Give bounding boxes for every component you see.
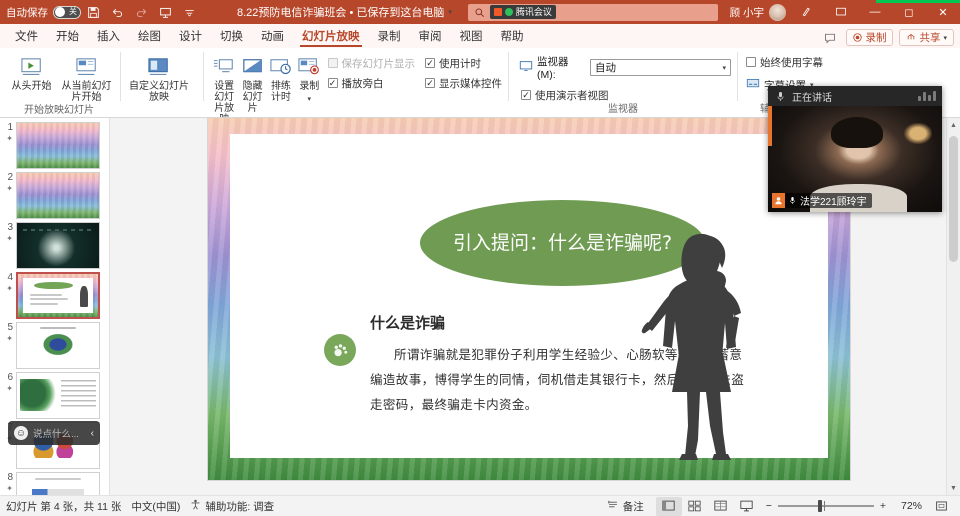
thumbnail-row[interactable]: 5 ✦: [0, 318, 109, 368]
hide-slide-label: 隐藏幻灯片: [239, 81, 265, 114]
rehearse-timings-button[interactable]: 排练计时: [267, 51, 295, 105]
tab-insert[interactable]: 插入: [88, 26, 129, 48]
ribbon-group-custom-show: 自定义幻灯片放映: [123, 48, 201, 118]
tab-animations[interactable]: 动画: [252, 26, 293, 48]
play-from-start-icon: [20, 53, 44, 79]
slide-white-card: 引入提问：什么是诈骗呢? 什么是诈骗 所谓诈骗就是犯罪份子利用学生经验少、心肠软…: [230, 134, 828, 458]
thumbnail-row-selected[interactable]: 4 ✦: [0, 268, 109, 318]
tab-draw[interactable]: 绘图: [129, 26, 170, 48]
slide-preview-art: [17, 123, 99, 168]
notes-icon: [607, 499, 619, 513]
meeting-video-feed[interactable]: 法学221顾玲宇: [768, 106, 942, 212]
animation-star-icon: ✦: [2, 283, 13, 294]
redo-icon[interactable]: [129, 1, 153, 23]
title-bar: 自动保存 关 8.22预防电信诈骗班会 •: [0, 0, 960, 24]
tab-file[interactable]: 文件: [6, 26, 47, 48]
tencent-meeting-badge[interactable]: 腾讯会议: [490, 5, 556, 19]
monitor-label: 监视器(M):: [537, 54, 586, 81]
checkbox-box: [425, 78, 435, 88]
badge-label: 腾讯会议: [516, 5, 552, 18]
ribbon-group-monitor: 监视器(M): 自动 ▾ 使用演示者视图 监视器: [511, 48, 735, 118]
meeting-status-text: 正在讲话: [792, 89, 832, 104]
thumbnail-row[interactable]: 3 ✦: [0, 218, 109, 268]
checkbox-use-timings[interactable]: 使用计时: [425, 55, 502, 71]
ribbon-group-label-start-slideshow: 开始放映幻灯片: [4, 105, 114, 118]
microphone-icon[interactable]: [774, 90, 786, 102]
document-title[interactable]: 8.22预防电信诈骗班会 • 已保存到这台电脑 ▾: [237, 4, 452, 20]
animation-star-icon: ✦: [2, 333, 13, 344]
zoom-out-button[interactable]: −: [766, 500, 772, 512]
checkbox-use-timings-label: 使用计时: [439, 56, 481, 71]
restore-button[interactable]: —: [858, 0, 892, 24]
checkbox-always-use-subtitles[interactable]: 始终使用字幕: [746, 54, 823, 70]
animation-star-icon: ✦: [2, 233, 13, 244]
thumbnail-number: 6 ✦: [2, 372, 16, 394]
rehearse-timings-icon: [269, 53, 293, 79]
autosave-label: 自动保存: [6, 5, 48, 20]
thumbnail-row[interactable]: 6 ✦: [0, 368, 109, 418]
account-name: 顾 小宇: [730, 5, 764, 20]
record-slideshow-label: 录制: [299, 81, 319, 92]
zoom-handle[interactable]: [818, 500, 822, 512]
badge-square-icon: [494, 8, 502, 16]
tab-design[interactable]: 设计: [170, 26, 211, 48]
title-bar-right: 顾 小宇 — ◻ ✕: [730, 0, 960, 24]
current-slide[interactable]: 引入提问：什么是诈骗呢? 什么是诈骗 所谓诈骗就是犯罪份子利用学生经验少、心肠软…: [208, 118, 850, 480]
checkbox-show-media-controls-label: 显示媒体控件: [439, 76, 502, 91]
chevron-down-icon[interactable]: ▾: [943, 34, 947, 42]
zoom-in-button[interactable]: +: [880, 500, 886, 512]
fit-to-window-icon[interactable]: [928, 497, 954, 516]
thumbnail-number: 2 ✦: [2, 172, 16, 194]
slide-preview-art: [17, 173, 99, 218]
scroll-up-arrow-icon[interactable]: ▲: [947, 118, 960, 132]
chevron-down-icon[interactable]: ▾: [308, 94, 312, 105]
zoom-tick: [824, 501, 825, 511]
minimize-button[interactable]: [824, 0, 858, 24]
language-indicator[interactable]: 中文(中国): [131, 499, 190, 514]
slide-preview-line: [30, 298, 68, 300]
ribbon-group-label-spacer: [127, 105, 197, 118]
tab-slideshow[interactable]: 幻灯片放映: [293, 26, 369, 48]
record-button[interactable]: 录制: [846, 29, 893, 46]
thumbnail-number-text: 8: [7, 472, 13, 483]
checkbox-save-slideshow-label: 保存幻灯片显示: [342, 56, 416, 71]
vertical-scrollbar[interactable]: ▲ ▼: [946, 118, 960, 495]
tab-home[interactable]: 开始: [47, 26, 88, 48]
thumbnail-number: 5 ✦: [2, 322, 16, 344]
chat-input-placeholder[interactable]: 说点什么...: [33, 426, 86, 440]
notes-button[interactable]: 备注: [607, 499, 656, 514]
normal-view-icon[interactable]: [656, 497, 682, 516]
scrollbar-thumb[interactable]: [949, 136, 958, 262]
checkbox-play-narrations-label: 播放旁白: [342, 76, 384, 91]
checkbox-presenter-view-label: 使用演示者视图: [535, 88, 609, 103]
slide-preview-line: [35, 478, 81, 480]
monitor-select-value: 自动: [595, 60, 616, 75]
monitor-select[interactable]: 自动 ▾: [590, 59, 731, 76]
thumbnail-slide-1[interactable]: [16, 122, 100, 169]
scroll-down-arrow-icon[interactable]: ▼: [947, 481, 960, 495]
checkbox-show-media-controls[interactable]: 显示媒体控件: [425, 75, 502, 91]
checkbox-box: [328, 58, 338, 68]
ribbon-separator: [508, 52, 509, 101]
ribbon-group-label-monitor: 监视器: [515, 104, 731, 118]
slideshow-icon[interactable]: [734, 497, 760, 516]
participant-hair: [831, 117, 883, 149]
animation-star-icon: ✦: [2, 133, 13, 144]
quick-access-toolbar: 自动保存 关: [0, 1, 201, 23]
autosave-control[interactable]: 自动保存 关: [6, 5, 81, 20]
meeting-window-header: 正在讲话: [768, 86, 942, 106]
account-control[interactable]: 顾 小宇: [730, 4, 790, 21]
chevron-left-icon[interactable]: ‹: [91, 428, 94, 439]
close-button[interactable]: ✕: [926, 0, 960, 24]
comments-icon[interactable]: [820, 29, 840, 46]
thumbnail-number-text: 2: [7, 172, 13, 183]
play-from-start-label: 从头开始: [12, 81, 52, 92]
paw-icon: [324, 334, 356, 366]
tencent-meeting-window[interactable]: 正在讲话 法学221顾玲宇: [768, 86, 942, 212]
search-box[interactable]: 搜索 腾讯会议: [468, 4, 718, 21]
play-from-start-button[interactable]: 从头开始: [4, 51, 59, 94]
notes-label: 备注: [623, 499, 644, 514]
slide-preview-line: [30, 294, 62, 296]
record-slideshow-button[interactable]: 录制 ▾: [295, 51, 323, 107]
slide-preview-ellipse: [34, 282, 73, 290]
checkbox-play-narrations[interactable]: 播放旁白: [328, 75, 416, 91]
checkbox-box: [328, 78, 338, 88]
caption-settings-icon: [746, 77, 760, 93]
custom-show-icon: [147, 53, 171, 79]
custom-slideshow-label: 自定义幻灯片放映: [128, 81, 190, 103]
thumbnail-row[interactable]: 1 ✦: [0, 118, 109, 168]
avatar[interactable]: [769, 4, 786, 21]
ribbon-display-options-icon[interactable]: [790, 0, 824, 24]
slide-subheading[interactable]: 什么是诈骗: [370, 312, 445, 333]
zoom-track[interactable]: [778, 505, 874, 507]
thumbnail-slide-8[interactable]: [16, 472, 100, 495]
ribbon-group-start-slideshow: 从头开始 从当前幻灯片开始 开始放映幻灯片: [0, 48, 118, 118]
chevron-down-icon[interactable]: ▾: [448, 8, 452, 16]
accessibility-icon: [190, 499, 201, 513]
thumbnail-number-text: 1: [7, 122, 13, 133]
animation-star-icon: ✦: [2, 383, 13, 394]
thumbnail-row[interactable]: 8 ✦: [0, 468, 109, 495]
zoom-slider[interactable]: − + 72%: [760, 500, 928, 512]
audio-wave-icon: [918, 91, 936, 101]
checkbox-box: [746, 57, 756, 67]
smiley-icon[interactable]: ☺: [14, 426, 28, 440]
tab-record[interactable]: 录制: [369, 26, 410, 48]
autosave-state: 关: [69, 6, 77, 17]
thumbnail-number-text: 3: [7, 222, 13, 233]
share-button-label: 共享: [919, 30, 940, 45]
thumbnail-number-text: 4: [7, 272, 13, 283]
record-slideshow-icon: [297, 53, 321, 79]
tab-review[interactable]: 审阅: [410, 26, 451, 48]
thumbnail-slide-6[interactable]: [16, 372, 100, 419]
thumbnail-slide-3[interactable]: [16, 222, 100, 269]
custom-slideshow-button[interactable]: 自定义幻灯片放映: [127, 51, 191, 105]
screen-share-indicator: [876, 0, 960, 3]
checkbox-box: [425, 58, 435, 68]
share-button[interactable]: 共享 ▾: [899, 29, 954, 46]
ribbon-separator: [120, 52, 121, 101]
slide-thumbnail-panel[interactable]: 1 ✦ 2 ✦ 3 ✦ 4 ✦: [0, 118, 110, 495]
reading-view-icon[interactable]: [708, 497, 734, 516]
slide-preview-card: [23, 278, 93, 313]
tab-view[interactable]: 视图: [451, 26, 492, 48]
maximize-button[interactable]: ◻: [892, 0, 926, 24]
undo-icon[interactable]: [105, 1, 129, 23]
thumbnail-number: 1 ✦: [2, 122, 16, 144]
slide-sorter-icon[interactable]: [682, 497, 708, 516]
ribbon-separator: [203, 52, 204, 101]
monitor-icon: [519, 60, 533, 76]
participant-name-badge: 法学221顾玲宇: [772, 193, 872, 208]
monitor-row: 监视器(M): 自动 ▾: [519, 54, 731, 81]
thumbnail-number: 8 ✦: [2, 472, 16, 494]
chevron-down-icon[interactable]: ▾: [722, 64, 726, 72]
tab-help[interactable]: 帮助: [492, 26, 533, 48]
status-bar: 幻灯片 第 4 张，共 11 张 中文(中国) 辅助功能: 调查 备注: [0, 495, 960, 516]
accessibility-indicator[interactable]: 辅助功能: 调查: [190, 499, 284, 514]
ribbon-separator: [737, 52, 738, 101]
thumbnail-number: 4 ✦: [2, 272, 16, 294]
thumbnail-row[interactable]: 2 ✦: [0, 168, 109, 218]
ribbon-tabs: 文件 开始 插入 绘图 设计 切换 动画 幻灯片放映 录制 审阅 视图 帮助 录…: [0, 24, 960, 48]
record-button-label: 录制: [865, 30, 886, 45]
meeting-speaking-indicator: [768, 106, 772, 146]
slide-preview-text-column: [61, 380, 95, 410]
badge-dot-icon: [505, 8, 513, 16]
ribbon-actions: 录制 共享 ▾: [820, 29, 960, 48]
powerpoint-window: 自动保存 关 8.22预防电信诈骗班会 •: [0, 0, 960, 516]
hide-slide-icon: [241, 53, 265, 79]
thumbnail-slide-2[interactable]: [16, 172, 100, 219]
user-icon: [772, 193, 785, 208]
accessibility-text: 辅助功能: 调查: [205, 499, 274, 514]
setup-checkbox-column-2: 使用计时 显示媒体控件: [425, 51, 502, 91]
background-lamp: [904, 123, 932, 144]
play-from-current-button[interactable]: 从当前幻灯片开始: [59, 51, 114, 105]
present-icon[interactable]: [153, 1, 177, 23]
slide-preview-diagram: [42, 333, 75, 356]
thumbnail-number: 3 ✦: [2, 222, 16, 244]
setup-slideshow-button[interactable]: 设置幻灯片放映: [210, 51, 238, 127]
checkbox-save-slideshow[interactable]: 保存幻灯片显示: [328, 55, 416, 71]
woman-silhouette-icon: [634, 230, 769, 478]
checkbox-presenter-view[interactable]: 使用演示者视图: [521, 87, 609, 103]
participant-name-text: 法学221顾玲宇: [800, 193, 867, 208]
setup-show-icon: [212, 53, 236, 79]
customize-quick-access-icon[interactable]: [177, 1, 201, 23]
zoom-percent[interactable]: 72%: [892, 500, 922, 512]
slide-preview-line: [40, 327, 76, 329]
thumbnail-number-text: 6: [7, 372, 13, 383]
animation-star-icon: ✦: [2, 183, 13, 194]
autosave-knob: [55, 7, 65, 17]
checkbox-box: [521, 90, 531, 100]
search-icon: [474, 7, 485, 18]
meeting-chat-pill[interactable]: ☺ 说点什么... ‹: [8, 421, 100, 445]
slide-preview-green-art: [20, 379, 59, 411]
play-from-current-icon: [75, 53, 99, 79]
save-icon[interactable]: [81, 1, 105, 23]
animation-star-icon: ✦: [2, 483, 13, 494]
checkbox-always-use-subtitles-label: 始终使用字幕: [760, 55, 823, 70]
thumbnail-slide-4[interactable]: [16, 272, 100, 319]
autosave-toggle[interactable]: 关: [53, 6, 81, 19]
slide-count[interactable]: 幻灯片 第 4 张，共 11 张: [6, 499, 131, 514]
document-title-text: 8.22预防电信诈骗班会 • 已保存到这台电脑: [237, 4, 444, 20]
slide-preview-dots: [23, 229, 93, 231]
tab-transitions[interactable]: 切换: [211, 26, 252, 48]
slide-preview-silhouette: [80, 286, 88, 308]
ribbon-group-setup: 设置幻灯片放映 隐藏幻灯片 排练计时: [206, 48, 506, 118]
play-from-current-label: 从当前幻灯片开始: [60, 81, 113, 103]
rehearse-timings-label: 排练计时: [268, 81, 294, 103]
thumbnail-slide-5[interactable]: [16, 322, 100, 369]
thumbnail-number-text: 5: [7, 322, 13, 333]
microphone-icon: [788, 196, 797, 205]
hide-slide-button[interactable]: 隐藏幻灯片: [238, 51, 266, 116]
setup-checkbox-column-1: 保存幻灯片显示 播放旁白: [328, 51, 416, 91]
slide-preview-line: [30, 303, 58, 305]
status-bar-right: 备注 − + 72%: [607, 497, 954, 516]
